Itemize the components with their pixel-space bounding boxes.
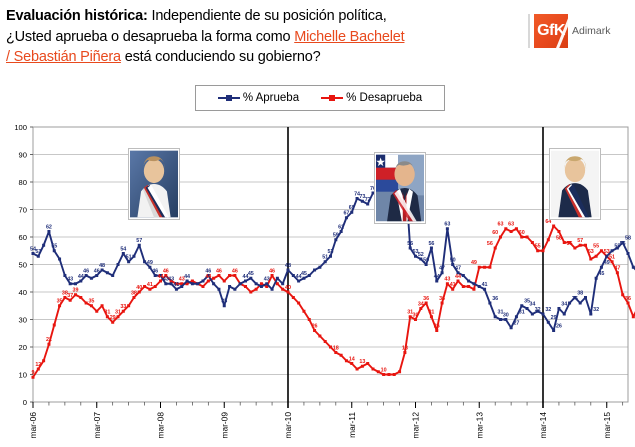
data-point-label: 47 bbox=[455, 266, 461, 272]
data-point-label: 10 bbox=[381, 367, 387, 373]
data-point-label: 41 bbox=[173, 282, 179, 288]
x-tick-label: mar-14 bbox=[538, 412, 548, 439]
data-point-label: 46 bbox=[269, 268, 275, 274]
x-tick-label: mar-06 bbox=[28, 412, 38, 439]
data-point-label: 51 bbox=[322, 255, 328, 261]
logo-divider bbox=[528, 14, 530, 48]
data-point-label: 57 bbox=[577, 238, 583, 244]
chart-x-axis: mar-06mar-07mar-08mar-09mar-10mar-11mar-… bbox=[28, 402, 623, 439]
legend-item-aprueba: % Aprueba bbox=[218, 92, 299, 104]
y-tick-label: 50 bbox=[19, 261, 27, 270]
title-line3-rest: está conduciendo su gobierno? bbox=[121, 49, 321, 65]
y-tick-label: 90 bbox=[19, 151, 27, 160]
data-point-label: 53 bbox=[35, 249, 41, 255]
data-point-label: 72 bbox=[365, 197, 371, 203]
data-point-label: 35 bbox=[88, 299, 94, 305]
data-point-label: 37 bbox=[67, 293, 73, 299]
data-point-label: 29 bbox=[110, 315, 116, 321]
data-point-label: 63 bbox=[444, 222, 450, 228]
data-point-label: 58 bbox=[625, 235, 631, 241]
y-tick-label: 40 bbox=[19, 288, 27, 297]
legend-marker-aprueba-icon bbox=[218, 97, 240, 99]
page-title: Evaluación histórica: Independiente de s… bbox=[6, 6, 518, 68]
x-tick-label: mar-09 bbox=[219, 412, 229, 439]
chart-plot-area: 0102030405060708090100 mar-06mar-07mar-0… bbox=[0, 118, 635, 447]
gfk-adimark-logo: GfK Adimark bbox=[528, 14, 611, 48]
data-point-label: 60 bbox=[492, 230, 498, 236]
data-point-label: 34 bbox=[418, 301, 424, 307]
data-point-label: 30 bbox=[503, 312, 509, 318]
data-point-label: 46 bbox=[83, 268, 89, 274]
data-point-label: 44 bbox=[78, 274, 84, 280]
x-tick-label: mar-08 bbox=[156, 412, 166, 439]
data-point-label: 36 bbox=[439, 296, 445, 302]
data-point-label: 48 bbox=[99, 263, 105, 269]
data-point-label: 45 bbox=[598, 271, 604, 277]
data-point-label: 43 bbox=[264, 277, 270, 283]
data-point-label: 58 bbox=[556, 235, 562, 241]
data-point-label: 56 bbox=[620, 241, 626, 247]
title-bold: Evaluación histórica: bbox=[6, 8, 148, 24]
data-point-label: 26 bbox=[556, 323, 562, 329]
x-tick-label: mar-15 bbox=[602, 412, 612, 439]
data-point-label: 14 bbox=[349, 356, 355, 362]
y-tick-label: 0 bbox=[23, 398, 27, 407]
data-point-label: 31 bbox=[115, 310, 121, 316]
chart-y-axis: 0102030405060708090100 bbox=[14, 123, 33, 407]
x-tick-label: mar-13 bbox=[474, 412, 484, 439]
data-point-label: 56 bbox=[567, 241, 573, 247]
data-point-label: 56 bbox=[428, 241, 434, 247]
data-point-label: 44 bbox=[455, 274, 461, 280]
data-point-label: 48 bbox=[285, 263, 291, 269]
data-point-label: 40 bbox=[285, 285, 291, 291]
data-point-label: 55 bbox=[593, 244, 599, 250]
title-line2: ¿Usted aprueba o desaprueba la forma com… bbox=[6, 29, 294, 45]
data-point-label: 60 bbox=[519, 230, 525, 236]
data-point-label: 56 bbox=[407, 241, 413, 247]
data-point-label: 62 bbox=[46, 224, 52, 230]
data-point-label: 29 bbox=[551, 315, 557, 321]
title-link-bachelet: Michelle Bachelet bbox=[294, 29, 404, 45]
x-tick-label: mar-12 bbox=[411, 412, 421, 439]
data-point-label: 50 bbox=[450, 257, 456, 263]
data-point-label: 62 bbox=[338, 224, 344, 230]
data-point-label: 57 bbox=[136, 238, 142, 244]
title-link-pinera: / Sebastián Piñera bbox=[6, 49, 121, 65]
data-point-label: 12 bbox=[35, 362, 41, 368]
data-point-label: 32 bbox=[535, 307, 541, 313]
data-point-label: 59 bbox=[333, 233, 339, 239]
y-tick-label: 80 bbox=[19, 178, 27, 187]
y-tick-label: 60 bbox=[19, 233, 27, 242]
y-tick-label: 100 bbox=[14, 123, 27, 132]
data-point-label: 54 bbox=[120, 246, 126, 252]
data-point-label: 21 bbox=[46, 337, 52, 343]
data-point-label: 46 bbox=[205, 268, 211, 274]
x-tick-label: mar-07 bbox=[92, 412, 102, 439]
header: Evaluación histórica: Independiente de s… bbox=[0, 0, 635, 78]
chart-legend: % Aprueba % Desaprueba bbox=[195, 85, 445, 111]
title-rest: Independiente de su posición política, bbox=[148, 8, 387, 24]
photo-pinera bbox=[374, 152, 426, 224]
data-point-label: 49 bbox=[147, 260, 153, 266]
y-tick-label: 70 bbox=[19, 206, 27, 215]
data-point-label: 27 bbox=[513, 321, 519, 327]
data-point-label: 44 bbox=[184, 274, 190, 280]
data-point-label: 45 bbox=[301, 271, 307, 277]
data-point-label: 41 bbox=[450, 282, 456, 288]
legend-marker-desaprueba-icon bbox=[321, 97, 343, 99]
data-point-label: 41 bbox=[482, 282, 488, 288]
y-tick-label: 10 bbox=[19, 371, 27, 380]
data-point-label: 51 bbox=[609, 255, 615, 261]
x-tick-label: mar-10 bbox=[283, 412, 293, 439]
data-point-label: 35 bbox=[221, 299, 227, 305]
data-point-label: 44 bbox=[205, 274, 211, 280]
legend-label-aprueba: % Aprueba bbox=[243, 92, 299, 104]
data-point-label: 53 bbox=[328, 249, 334, 255]
data-point-label: 30 bbox=[413, 312, 419, 318]
data-point-label: 46 bbox=[216, 268, 222, 274]
series-desaprueba-labels: 9122135383739353129313338404144464344464… bbox=[32, 219, 632, 376]
data-point-label: 46 bbox=[152, 268, 158, 274]
data-point-label: 34 bbox=[561, 301, 567, 307]
data-point-label: 18 bbox=[333, 345, 339, 351]
data-point-label: 9 bbox=[32, 370, 35, 376]
y-tick-label: 20 bbox=[19, 343, 27, 352]
data-point-label: 53 bbox=[588, 249, 594, 255]
data-point-label: 39 bbox=[73, 288, 79, 294]
data-point-label: 46 bbox=[163, 268, 169, 274]
data-point-label: 38 bbox=[577, 290, 583, 296]
x-tick-label: mar-11 bbox=[347, 412, 357, 438]
data-point-label: 55 bbox=[535, 244, 541, 250]
data-point-label: 46 bbox=[232, 268, 238, 274]
y-tick-label: 30 bbox=[19, 316, 27, 325]
data-point-label: 38 bbox=[131, 290, 137, 296]
data-point-label: 55 bbox=[51, 244, 57, 250]
data-point-label: 18 bbox=[402, 345, 408, 351]
legend-label-desaprueba: % Desaprueba bbox=[346, 92, 422, 104]
data-point-label: 47 bbox=[439, 266, 445, 272]
adimark-logo-text: Adimark bbox=[572, 25, 611, 37]
approval-line-chart: 0102030405060708090100 mar-06mar-07mar-0… bbox=[0, 118, 635, 447]
data-point-label: 32 bbox=[545, 307, 551, 313]
data-point-label: 46 bbox=[94, 268, 100, 274]
data-point-label: 50 bbox=[423, 257, 429, 263]
photo-bachelet-second-term bbox=[549, 148, 601, 220]
data-point-label: 63 bbox=[498, 222, 504, 228]
data-point-label: 26 bbox=[312, 323, 318, 329]
data-point-label: 63 bbox=[508, 222, 514, 228]
data-point-label: 67 bbox=[343, 211, 349, 217]
data-point-label: 40 bbox=[136, 285, 142, 291]
legend-item-desaprueba: % Desaprueba bbox=[321, 92, 422, 104]
data-point-label: 51 bbox=[126, 255, 132, 261]
data-point-label: 36 bbox=[625, 296, 631, 302]
data-point-label: 36 bbox=[492, 296, 498, 302]
gfk-logo-mark: GfK bbox=[534, 14, 568, 48]
data-point-label: 44 bbox=[434, 274, 440, 280]
data-point-label: 32 bbox=[593, 307, 599, 313]
data-point-label: 43 bbox=[67, 277, 73, 283]
data-point-label: 49 bbox=[471, 260, 477, 266]
data-point-label: 45 bbox=[248, 271, 254, 277]
data-point-label: 36 bbox=[423, 296, 429, 302]
data-point-label: 56 bbox=[487, 241, 493, 247]
data-point-label: 36 bbox=[572, 296, 578, 302]
data-point-label: 35 bbox=[57, 299, 63, 305]
data-point-label: 31 bbox=[428, 310, 434, 316]
data-point-label: 31 bbox=[519, 310, 525, 316]
data-point-label: 13 bbox=[359, 359, 365, 365]
data-point-label: 33 bbox=[120, 304, 126, 310]
data-point-label: 26 bbox=[434, 323, 440, 329]
photo-bachelet-first-term bbox=[128, 148, 180, 220]
data-point-label: 47 bbox=[614, 266, 620, 272]
data-point-label: 41 bbox=[147, 282, 153, 288]
data-point-label: 49 bbox=[604, 260, 610, 266]
data-point-label: 69 bbox=[349, 205, 355, 211]
